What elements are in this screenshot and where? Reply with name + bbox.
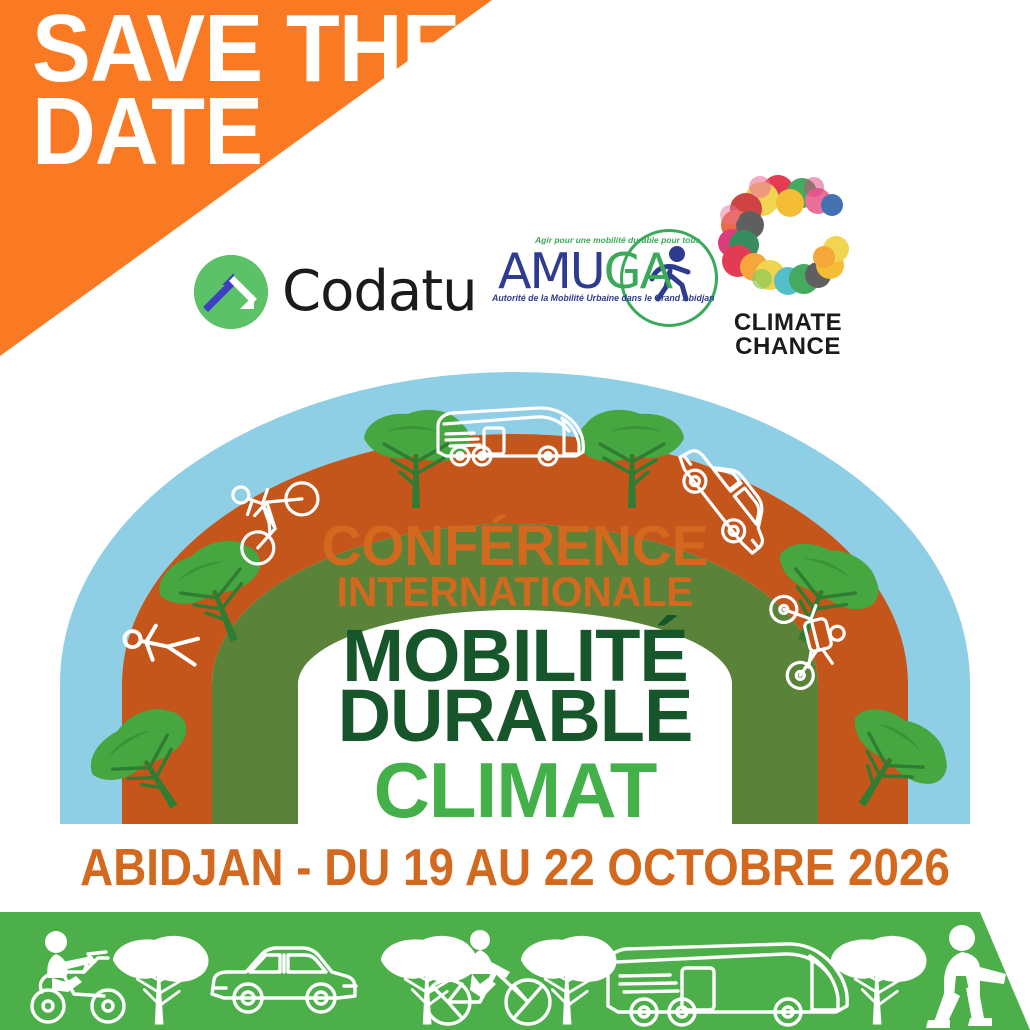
codatu-mark-icon bbox=[194, 255, 268, 329]
climate-chance-mark-icon bbox=[718, 175, 858, 305]
headline-block: CONFÉRENCE INTERNATIONALE MOBILITÉ DURAB… bbox=[0, 518, 1030, 829]
headline-climat: CLIMAT bbox=[0, 751, 1030, 829]
amuga-wordmark: AMUGA bbox=[498, 247, 671, 296]
climate-chance-wordmark: CLIMATE CHANCE bbox=[708, 311, 868, 359]
date-line: ABIDJAN - DU 19 AU 22 OCTOBRE 2026 bbox=[62, 838, 968, 898]
logo-amuga[interactable]: Agir pour une mobilité durable pour tous… bbox=[492, 233, 712, 338]
partner-logos: Codatu Agir pour une mobilité durable po… bbox=[180, 175, 920, 375]
logo-codatu[interactable]: Codatu bbox=[194, 255, 477, 329]
poster-canvas: CONFÉRENCE INTERNATIONALE MOBILITÉ DURAB… bbox=[0, 0, 1030, 1030]
climate-chance-line1: CLIMATE bbox=[708, 311, 868, 335]
headline-conference: CONFÉRENCE bbox=[15, 518, 1014, 575]
codatu-wordmark: Codatu bbox=[282, 264, 477, 320]
headline-internationale: INTERNATIONALE bbox=[15, 571, 1014, 613]
headline-durable: DURABLE bbox=[0, 679, 1030, 753]
save-the-date-line2: DATE bbox=[32, 91, 460, 174]
climate-chance-line2: CHANCE bbox=[708, 335, 868, 359]
amuga-bottom-tagline: Autorité de la Mobilité Urbaine dans le … bbox=[492, 293, 692, 303]
save-the-date-text: SAVE THE DATE bbox=[32, 8, 460, 173]
logo-climate-chance[interactable]: CLIMATE CHANCE bbox=[708, 175, 868, 365]
bottom-icon-banner bbox=[0, 912, 1030, 1030]
